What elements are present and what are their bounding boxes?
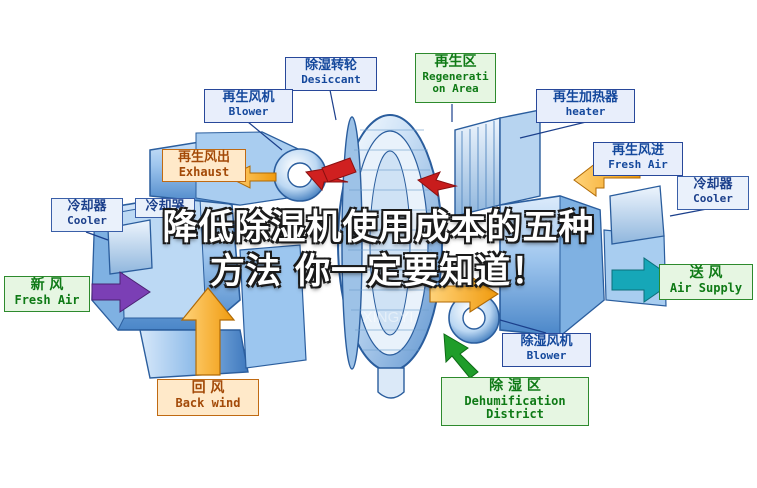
label-regeneration-exhaust-cn: 再生风出 (165, 151, 243, 166)
watermark-text: XINGYI (363, 309, 414, 326)
label-fresh-air-in-en: Fresh Air (7, 294, 87, 307)
label-regeneration-blower: 再生风机Blower (204, 89, 293, 123)
label-dehumidification-district: 除 湿 区Dehumification District (441, 377, 589, 426)
label-fresh-air-in: 新 风Fresh Air (4, 276, 90, 312)
label-back-wind-en: Back wind (160, 397, 256, 410)
label-regeneration-exhaust: 再生风出Exhaust (162, 149, 246, 182)
dehumidifier-schematic: XINGYI (0, 0, 757, 488)
label-cooler-left-2: 冷却哭 (135, 198, 195, 218)
label-dehumidification-blower: 除湿风机Blower (502, 333, 591, 367)
label-cooler-left: 冷却器Cooler (51, 198, 123, 232)
label-regeneration-area: 再生区Regenerati on Area (415, 53, 496, 103)
label-cooler-left-2-cn: 冷却哭 (138, 200, 192, 215)
label-air-supply-cn: 送 风 (662, 266, 750, 282)
label-regeneration-blower-en: Blower (207, 106, 290, 118)
arrow-regen-area-pointer (420, 106, 444, 156)
label-regeneration-exhaust-en: Exhaust (165, 166, 243, 179)
label-back-wind-cn: 回 风 (160, 381, 256, 397)
label-regeneration-heater-en: heater (539, 106, 632, 118)
label-cooler-right-cn: 冷却器 (680, 178, 746, 193)
label-dehumidification-district-cn: 除 湿 区 (444, 379, 586, 395)
label-dehumidification-blower-en: Blower (505, 350, 588, 362)
label-dehumidification-district-en: Dehumification District (444, 395, 586, 422)
label-regeneration-heater: 再生加热器heater (536, 89, 635, 123)
label-air-supply-en: Air Supply (662, 282, 750, 295)
label-desiccant-wheel-en: Desiccant (288, 74, 374, 86)
label-desiccant-wheel: 除湿转轮Desiccant (285, 57, 377, 91)
label-regeneration-fresh-air-in: 再生风进Fresh Air (593, 142, 683, 176)
desiccant-rotor (338, 115, 442, 398)
label-back-wind: 回 风Back wind (157, 379, 259, 416)
cooler-right-coil (610, 186, 664, 244)
label-regeneration-fresh-air-in-en: Fresh Air (596, 159, 680, 171)
label-regeneration-area-cn: 再生区 (418, 55, 493, 71)
label-dehumidification-blower-cn: 除湿风机 (505, 335, 588, 350)
label-regeneration-fresh-air-in-cn: 再生风进 (596, 144, 680, 159)
regeneration-heater-coil (455, 110, 540, 216)
label-fresh-air-in-cn: 新 风 (7, 278, 87, 294)
diagram-canvas: XINGYI 除湿转轮Desiccant再生区Regenerati on Are… (0, 0, 757, 488)
label-cooler-left-en: Cooler (54, 215, 120, 227)
label-cooler-left-cn: 冷却器 (54, 200, 120, 215)
label-regeneration-area-en: Regenerati on Area (418, 71, 493, 96)
label-cooler-right: 冷却器Cooler (677, 176, 749, 210)
label-desiccant-wheel-cn: 除湿转轮 (288, 59, 374, 74)
label-cooler-right-en: Cooler (680, 193, 746, 205)
label-regeneration-blower-cn: 再生风机 (207, 91, 290, 106)
label-air-supply: 送 风Air Supply (659, 264, 753, 300)
label-regeneration-heater-cn: 再生加热器 (539, 91, 632, 106)
